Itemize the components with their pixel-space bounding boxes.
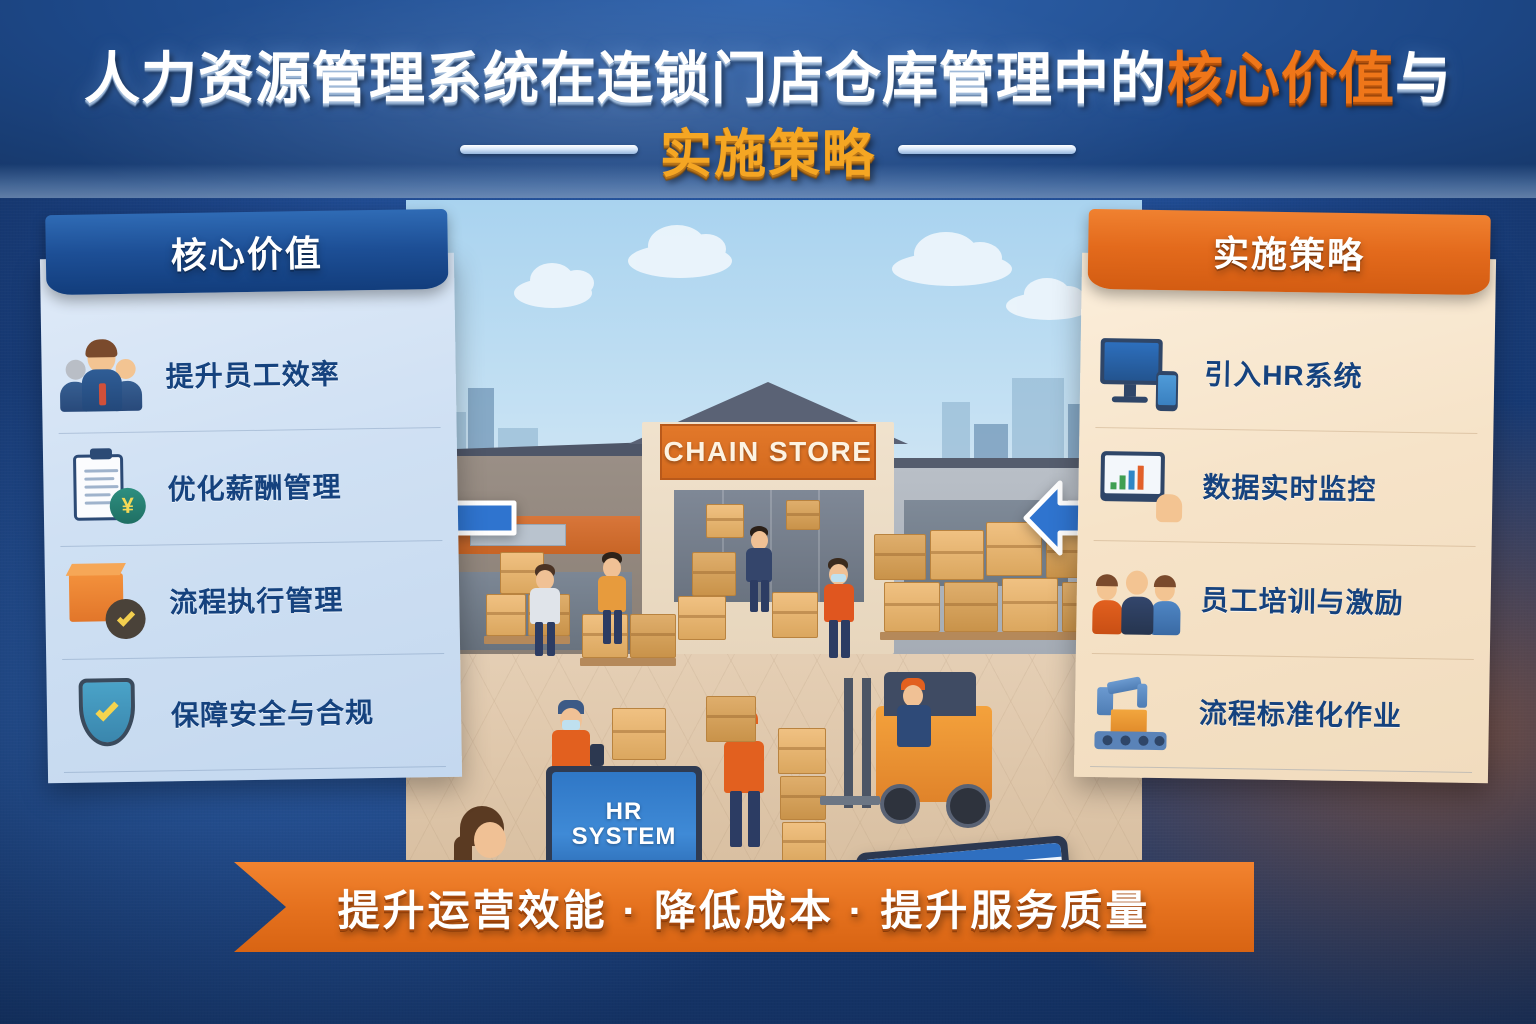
subtitle-row: 实施策略 bbox=[0, 112, 1536, 187]
list-item-label: 提升员工效率 bbox=[165, 353, 340, 396]
list-item-label: 员工培训与激励 bbox=[1200, 579, 1404, 622]
list-item-label: 保障安全与合规 bbox=[171, 691, 375, 734]
box-check-icon bbox=[61, 559, 154, 646]
core-value-panel: 核心价值 提升员工效率 bbox=[40, 253, 462, 783]
title-text-highlight: 核心价值 bbox=[1167, 47, 1395, 110]
cardboard-box bbox=[612, 708, 666, 760]
pallet bbox=[580, 658, 676, 666]
core-value-heading: 核心价值 bbox=[170, 225, 323, 279]
store-sign-text: CHAIN STORE bbox=[664, 436, 873, 468]
hand-pointer-icon bbox=[1156, 494, 1182, 522]
summary-ribbon bbox=[234, 862, 1254, 952]
hr-system-monitor: HR SYSTEM bbox=[546, 766, 702, 860]
pallet bbox=[484, 636, 570, 644]
cloud-icon bbox=[514, 278, 592, 308]
core-value-panel-header: 核心价值 bbox=[45, 209, 448, 295]
robot-arm-icon bbox=[1090, 667, 1183, 754]
strategy-panel-header: 实施策略 bbox=[1088, 209, 1491, 295]
hr-system-line1: HR bbox=[606, 799, 643, 824]
strategy-heading: 实施策略 bbox=[1213, 225, 1366, 279]
cardboard-box bbox=[786, 500, 820, 530]
list-item[interactable]: 引入HR系统 bbox=[1095, 315, 1479, 434]
cloud-icon bbox=[1006, 292, 1092, 320]
list-item-label: 数据实时监控 bbox=[1202, 466, 1377, 509]
title-text-suffix: 与 bbox=[1395, 47, 1452, 110]
subtitle-rule-left bbox=[460, 145, 638, 154]
cardboard-box bbox=[874, 534, 926, 580]
cloud-icon bbox=[892, 252, 1012, 286]
cardboard-box bbox=[486, 594, 526, 636]
cardboard-box bbox=[1002, 578, 1058, 632]
page-title: 人力资源管理系统在连锁门店仓库管理中的核心价值与 bbox=[0, 34, 1536, 115]
core-value-list: 提升员工效率 ¥ 优化薪酬管理 bbox=[41, 315, 462, 773]
workers-team-icon bbox=[1092, 554, 1185, 641]
list-item[interactable]: 流程标准化作业 bbox=[1090, 654, 1474, 773]
strategy-panel: 实施策略 引入HR系统 bbox=[1074, 253, 1496, 783]
forklift-wheel bbox=[946, 784, 990, 828]
desktop-mobile-icon bbox=[1096, 328, 1189, 415]
cardboard-box bbox=[630, 614, 676, 658]
list-item-label: 引入HR系统 bbox=[1204, 353, 1363, 395]
people-group-icon bbox=[57, 333, 150, 420]
cardboard-box bbox=[706, 504, 744, 538]
cardboard-box bbox=[930, 530, 984, 580]
cardboard-box bbox=[778, 728, 826, 774]
list-item-label: 优化薪酬管理 bbox=[167, 466, 342, 509]
list-item[interactable]: 流程执行管理 bbox=[60, 541, 444, 660]
list-item-label: 流程执行管理 bbox=[169, 579, 344, 622]
clipboard-money-icon: ¥ bbox=[59, 446, 152, 533]
cloud-icon bbox=[628, 244, 732, 278]
title-text-primary: 人力资源管理系统在连锁门店仓库管理中的 bbox=[84, 47, 1167, 110]
shield-check-icon bbox=[62, 672, 155, 759]
list-item[interactable]: 保障安全与合规 bbox=[62, 654, 446, 773]
forklift-wheel bbox=[880, 784, 920, 824]
hr-system-line2: SYSTEM bbox=[572, 824, 677, 849]
store-sign: CHAIN STORE bbox=[660, 424, 876, 480]
tablet-chart-icon bbox=[1094, 441, 1187, 528]
strategy-list: 引入HR系统 bbox=[1074, 315, 1495, 773]
list-item[interactable]: ¥ 优化薪酬管理 bbox=[59, 428, 443, 547]
cardboard-box bbox=[678, 596, 726, 640]
money-badge-icon: ¥ bbox=[110, 488, 147, 525]
cardboard-box bbox=[706, 696, 756, 742]
cardboard-box bbox=[692, 552, 736, 596]
check-badge-icon bbox=[105, 599, 146, 640]
subtitle-rule-right bbox=[898, 145, 1076, 154]
list-item-label: 流程标准化作业 bbox=[1199, 692, 1403, 735]
mobile-phone-icon bbox=[1156, 371, 1179, 411]
page-subtitle: 实施策略 bbox=[660, 112, 876, 187]
cardboard-box bbox=[772, 592, 818, 638]
hr-system-screen: HR SYSTEM bbox=[552, 772, 696, 860]
list-item[interactable]: 数据实时监控 bbox=[1094, 428, 1478, 547]
cardboard-box bbox=[884, 582, 940, 632]
list-item[interactable]: 提升员工效率 bbox=[57, 315, 441, 434]
infographic-canvas: 人力资源管理系统在连锁门店仓库管理中的核心价值与 实施策略 bbox=[0, 0, 1536, 1024]
cardboard-box bbox=[782, 822, 826, 860]
cardboard-box bbox=[944, 582, 998, 632]
list-item[interactable]: 员工培训与激励 bbox=[1092, 541, 1476, 660]
